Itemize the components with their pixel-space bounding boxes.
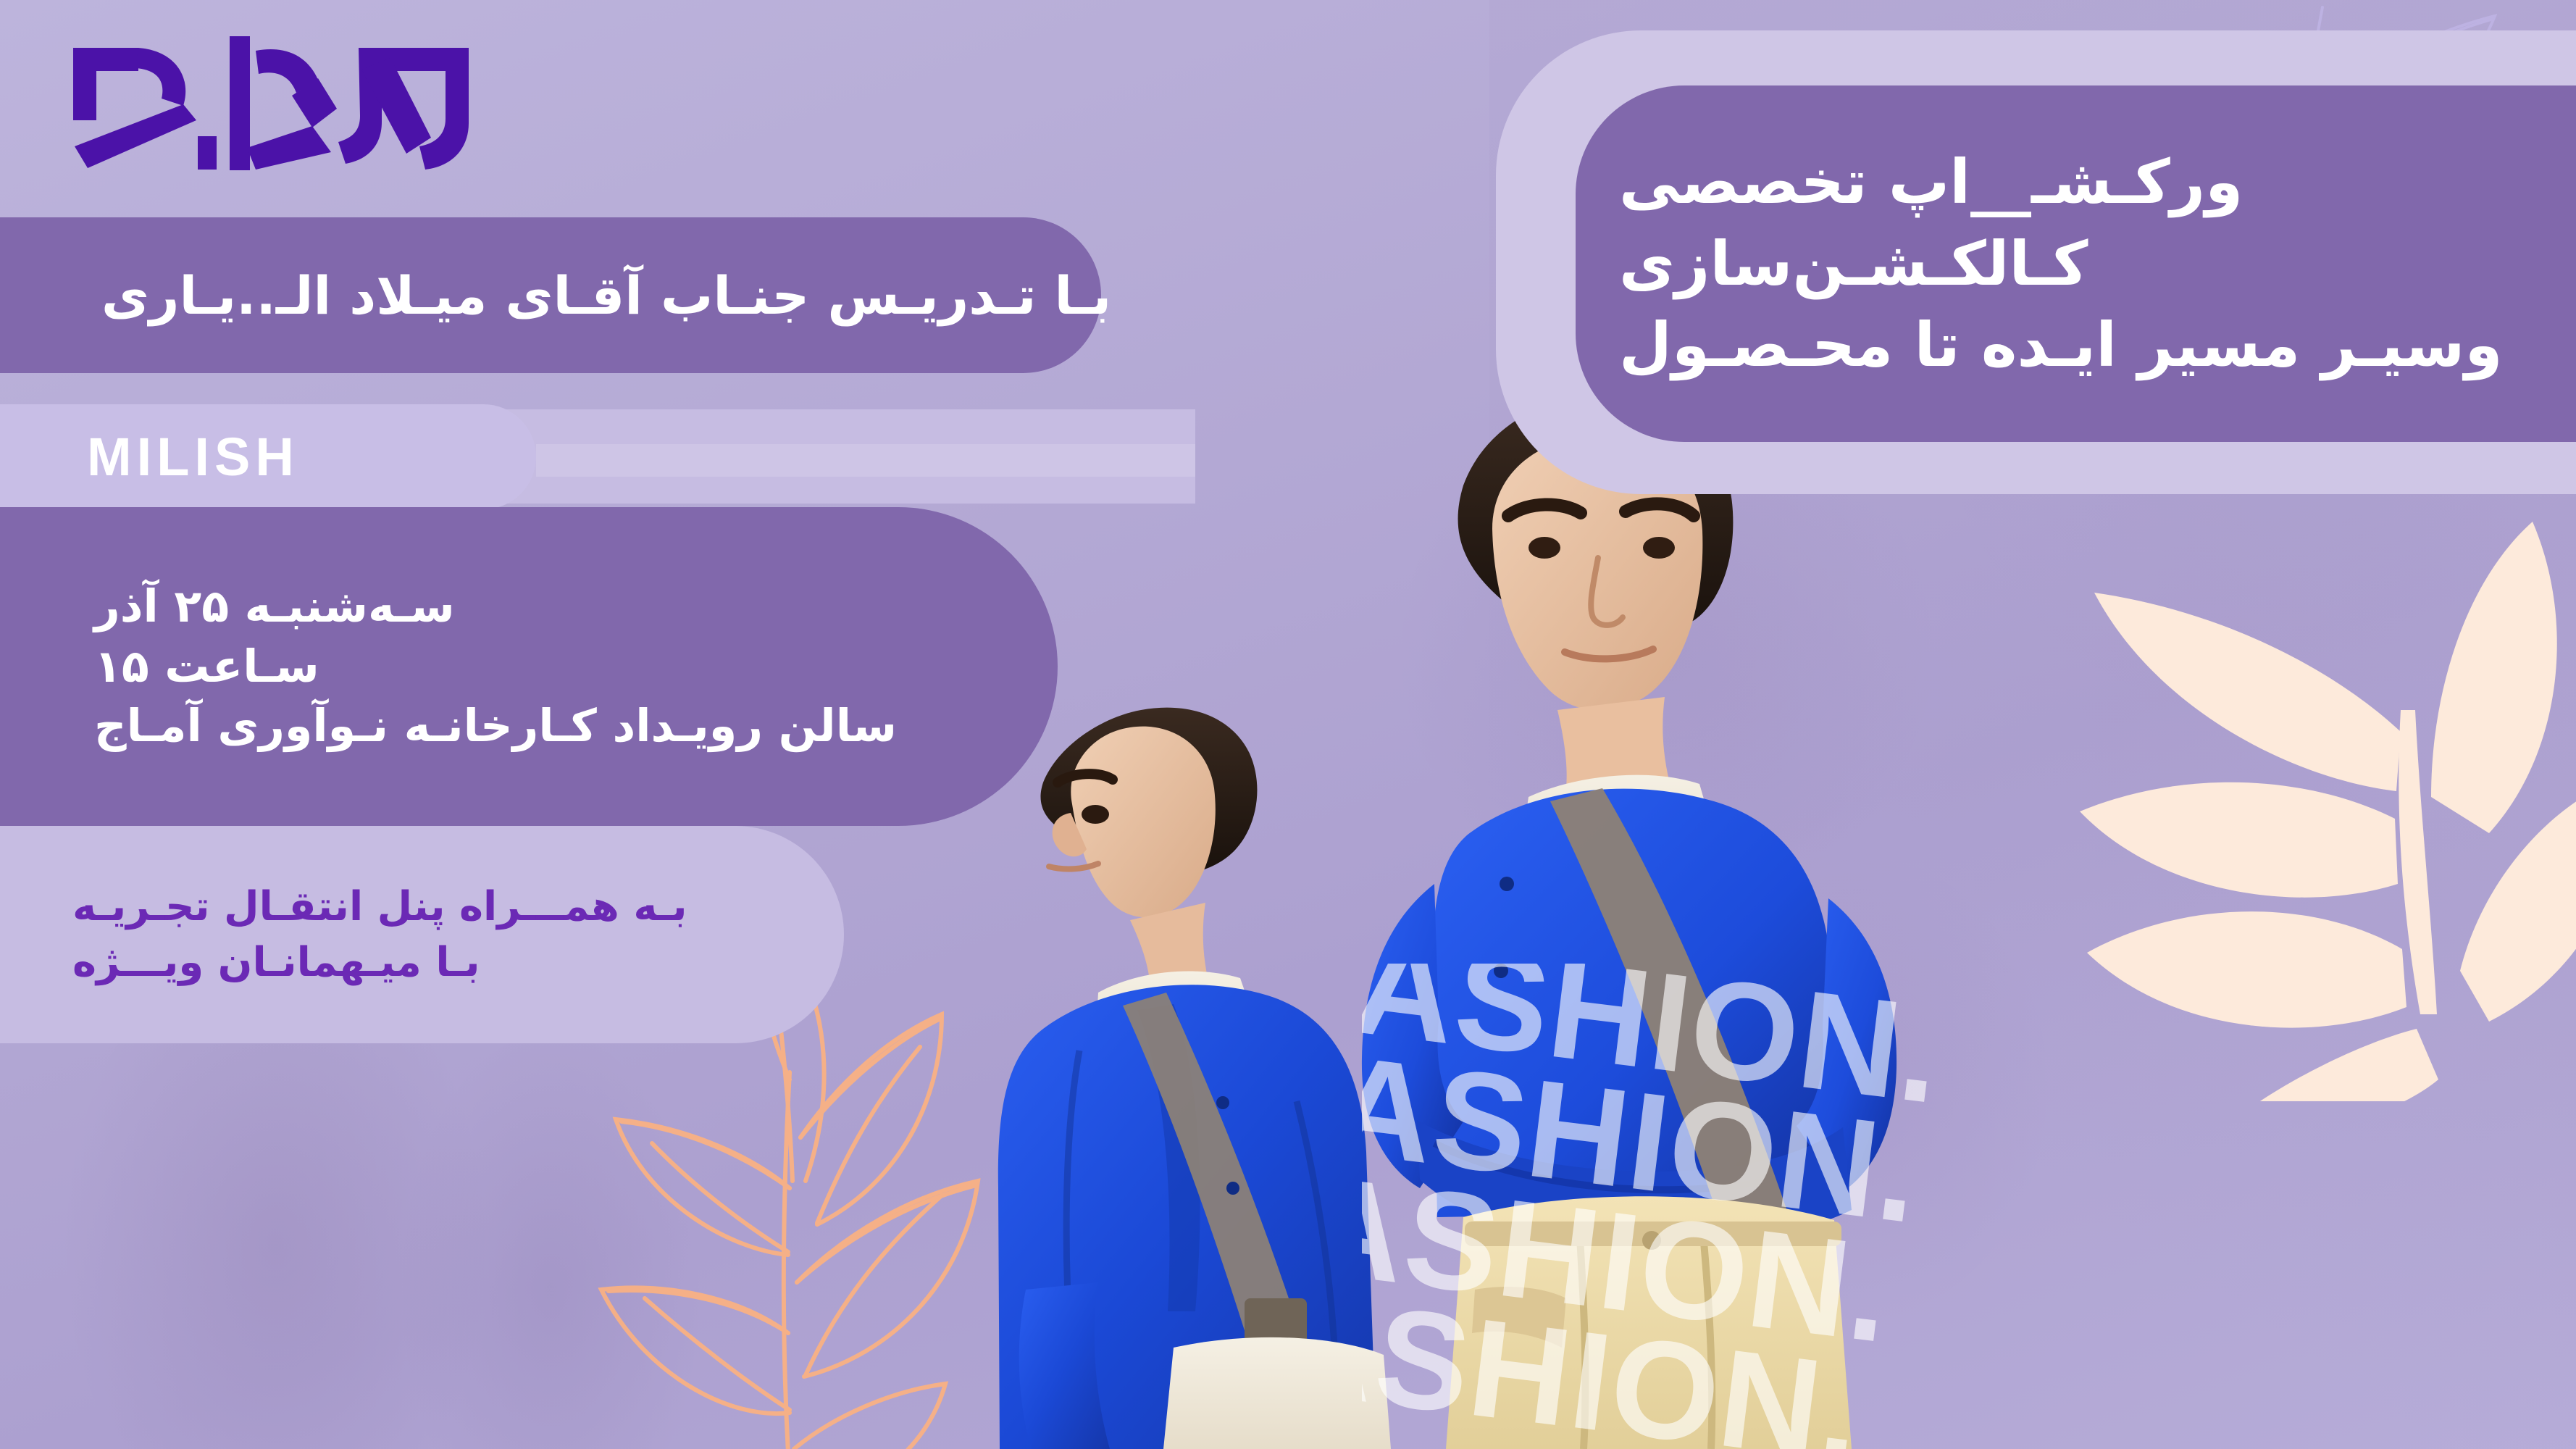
amaj-logo[interactable] [69,29,474,170]
headline-line-2: کـالکـشـن‌سازی [1619,223,2088,305]
milish-badge[interactable]: MILISH [0,404,536,509]
instructor-text: بـا تـدریـس جنـاب آقـای میـلاد الـ..یـار… [0,265,1111,326]
panel-line-2: بـا میـهمانـان ویـــژه [72,935,480,990]
experience-panel-band: بـه همـــراه پنل انتقـال تجـریـه بـا میـ… [0,826,844,1043]
headline-line-1: ورکـشـ__اپ تخصصی [1619,141,2243,223]
headline-card: ورکـشـ__اپ تخصصی کـالکـشـن‌سازی وسیـر مس… [1576,85,2576,442]
milish-badge-label: MILISH [0,426,299,488]
model-left [998,708,1391,1449]
event-details-band: سـه‌شنبـه ۲۵ آذر سـاعت ۱۵ سالن رویـداد ک… [0,507,1058,826]
milish-band-tail [536,444,1195,477]
event-date: سـه‌شنبـه ۲۵ آذر [94,577,455,636]
model-right [1362,395,1897,1449]
event-time: سـاعت ۱۵ [94,637,319,696]
event-venue: سالن رویـداد کـارخانـه نـوآوری آمـاج [94,696,897,756]
instructor-band: بـا تـدریـس جنـاب آقـای میـلاد الـ..یـار… [0,217,1101,373]
poster-canvas: FASHION. FASHION. FASHION. FASHION. ورک [0,0,2576,1449]
panel-line-1: بـه همـــراه پنل انتقـال تجـریـه [72,879,687,935]
headline-line-3: وسیـر مسیر ایـده تا محـصـول [1619,304,2503,386]
leaf-cream-decoration-right [2054,507,2576,1101]
